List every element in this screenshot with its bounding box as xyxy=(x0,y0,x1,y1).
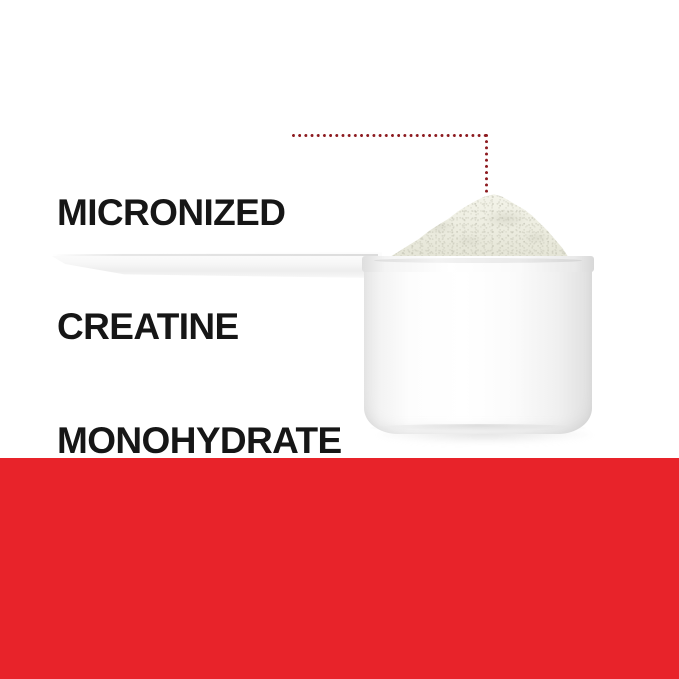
creatine-powder-texture xyxy=(384,192,574,266)
scoop-cup-base-highlight xyxy=(370,424,586,432)
product-infographic: MICRONIZED CREATINE MONOHYDRATE Creatine… xyxy=(0,0,679,679)
headline-line-1: MICRONIZED xyxy=(57,194,342,232)
scoop-rim-inner-edge xyxy=(374,258,582,263)
headline-line-2: CREATINE xyxy=(57,308,342,346)
page-title: MICRONIZED CREATINE MONOHYDRATE xyxy=(57,118,342,536)
headline-line-3: MONOHYDRATE xyxy=(57,422,342,460)
scoop-cup xyxy=(364,258,592,434)
dotted-leader-vertical xyxy=(485,134,488,194)
product-panel: MICRONIZED CREATINE MONOHYDRATE xyxy=(0,0,679,458)
